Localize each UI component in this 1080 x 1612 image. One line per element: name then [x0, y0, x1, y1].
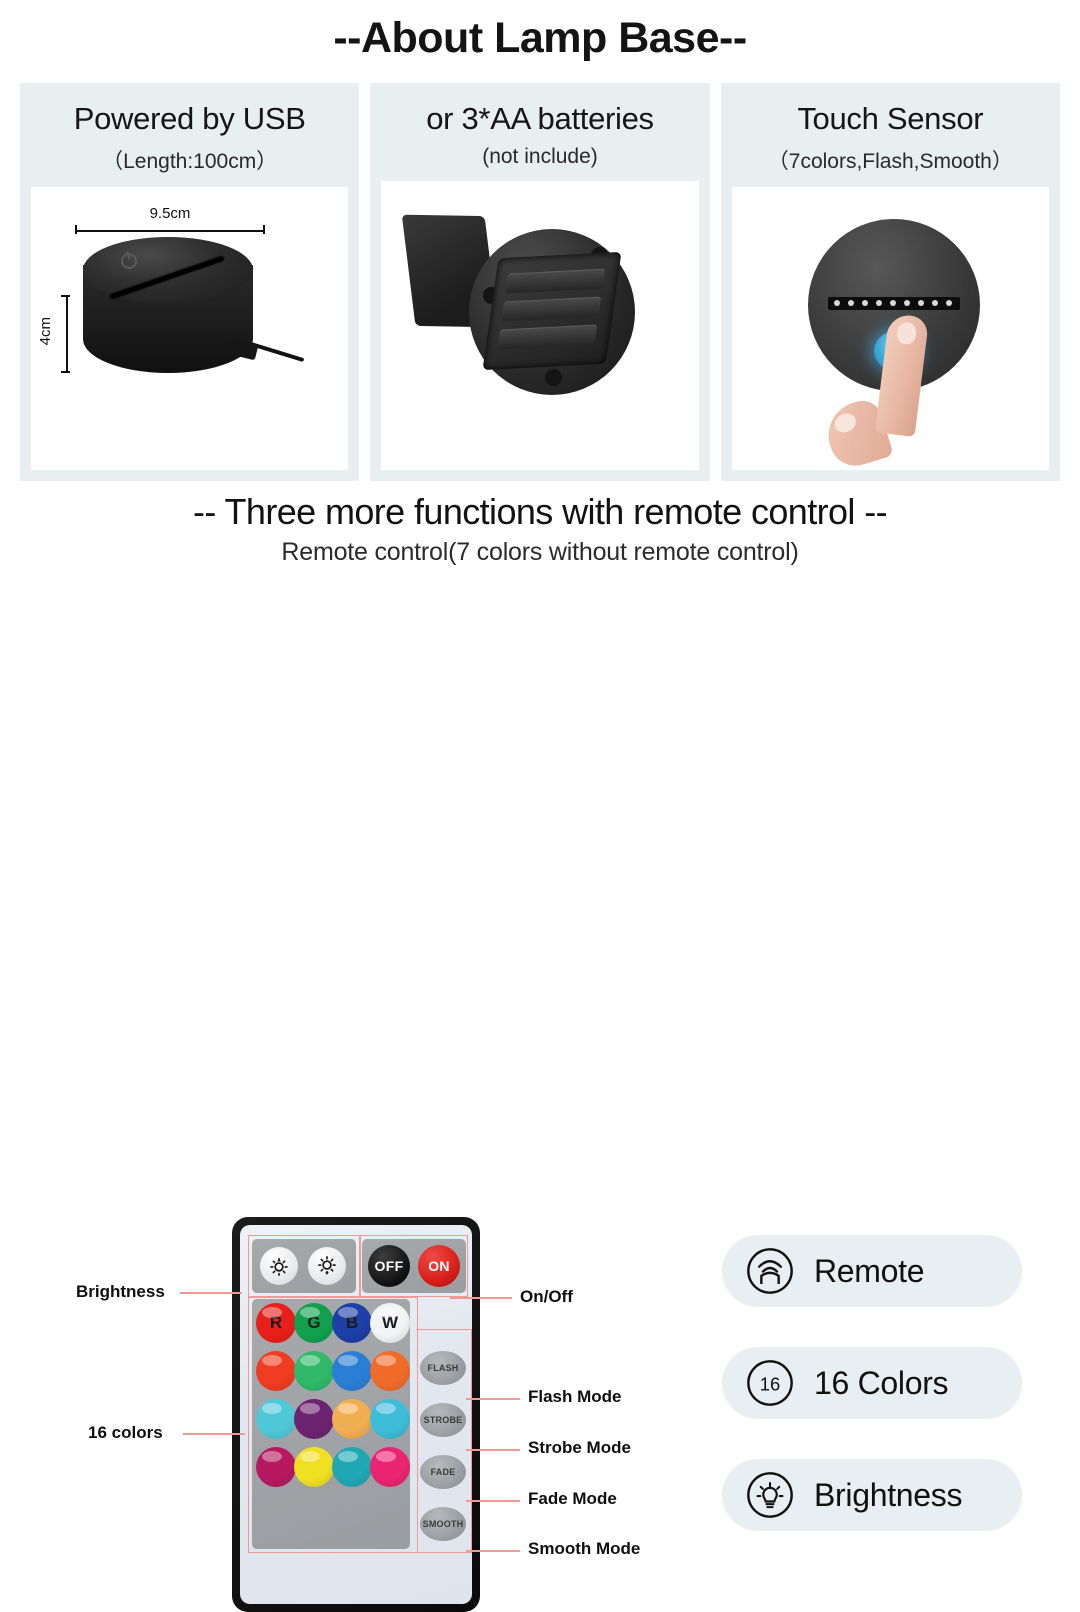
feature-cards-row: Powered by USB （Length:100cm） 9.5cm 4cm …	[0, 63, 1080, 481]
color-button-13[interactable]	[256, 1447, 296, 1487]
remote-section: OFF ON RGBW FLASHSTROBEFADESMOOTH Bright…	[0, 577, 1080, 1032]
dimension-width-line	[75, 225, 265, 234]
color-button-8[interactable]	[370, 1351, 410, 1391]
pill-label: Remote	[814, 1253, 924, 1290]
led-dot	[918, 300, 924, 306]
card-subtitle: （Length:100cm）	[102, 145, 277, 175]
remote-signal-icon	[744, 1245, 796, 1297]
card-touch-sensor: Touch Sensor （7colors,Flash,Smooth）	[721, 83, 1060, 481]
usb-plug	[226, 338, 259, 361]
brightness-down-button[interactable]	[308, 1247, 346, 1285]
led-dot	[876, 300, 882, 306]
led-strip	[828, 297, 960, 310]
color-button-r[interactable]: R	[256, 1303, 296, 1343]
callout-smooth-mode: Smooth Mode	[528, 1539, 640, 1559]
sixteen-circle-icon: 16	[744, 1357, 796, 1409]
lamp-base-usb-photo: 9.5cm 4cm	[31, 187, 348, 470]
card-aa-batteries: or 3*AA batteries (not include)	[370, 83, 709, 481]
callout-16-colors: 16 colors	[88, 1423, 163, 1443]
color-button-16[interactable]	[370, 1447, 410, 1487]
color-button-6[interactable]	[294, 1351, 334, 1391]
callout-flash-mode: Flash Mode	[528, 1387, 622, 1407]
section-heading: -- Three more functions with remote cont…	[0, 491, 1080, 533]
color-button-15[interactable]	[332, 1447, 372, 1487]
card-title: or 3*AA batteries	[426, 101, 654, 137]
callout-on-off: On/Off	[520, 1287, 573, 1307]
callout-smooth-line	[466, 1550, 520, 1552]
feature-pills: Remote 16 16 Colors	[722, 1235, 1022, 1531]
thumb-nail	[831, 410, 859, 436]
mode-button-smooth[interactable]: SMOOTH	[420, 1507, 466, 1541]
brightness-down-icon	[316, 1255, 338, 1277]
battery-slot	[506, 269, 606, 294]
on-button[interactable]: ON	[418, 1245, 460, 1287]
callout-fade-line	[466, 1500, 520, 1502]
mode-button-strobe[interactable]: STROBE	[420, 1403, 466, 1437]
led-dot	[848, 300, 854, 306]
rubber-foot	[545, 369, 562, 386]
sixteen-badge-text: 16	[760, 1374, 780, 1395]
lightbulb-icon	[744, 1469, 796, 1521]
remote-control: OFF ON RGBW FLASHSTROBEFADESMOOTH	[232, 1217, 480, 1612]
battery-cavity	[483, 252, 622, 370]
lamp-base-underside	[469, 229, 635, 395]
callout-strobe-line	[466, 1449, 520, 1451]
callout-strobe-mode: Strobe Mode	[528, 1438, 631, 1458]
pill-16-colors[interactable]: 16 16 Colors	[722, 1347, 1022, 1419]
battery-illustration	[381, 181, 698, 470]
brightness-up-button[interactable]	[260, 1247, 298, 1285]
dimension-height-label: 4cm	[37, 317, 54, 345]
color-button-g[interactable]: G	[294, 1303, 334, 1343]
mode-button-flash[interactable]: FLASH	[420, 1351, 466, 1385]
power-symbol-icon	[119, 251, 139, 271]
led-dot	[932, 300, 938, 306]
touch-sensor-illustration	[732, 187, 1049, 470]
card-title: Touch Sensor	[797, 101, 983, 137]
color-button-12[interactable]	[370, 1399, 410, 1439]
touch-sensor-finger-photo	[732, 187, 1049, 470]
dimension-width-label: 9.5cm	[75, 205, 265, 222]
power-keypad: OFF ON	[362, 1239, 466, 1293]
dimension-height-line	[61, 295, 70, 373]
callout-flash-line	[466, 1398, 520, 1400]
callout-fade-mode: Fade Mode	[528, 1489, 617, 1509]
remote-faceplate: OFF ON RGBW FLASHSTROBEFADESMOOTH	[240, 1225, 472, 1604]
color-button-b[interactable]: B	[332, 1303, 372, 1343]
callout-16-colors-line	[183, 1433, 245, 1435]
color-button-5[interactable]	[256, 1351, 296, 1391]
battery-slot	[498, 325, 598, 350]
color-button-7[interactable]	[332, 1351, 372, 1391]
color-button-10[interactable]	[294, 1399, 334, 1439]
battery-slot	[502, 297, 602, 322]
usb-cable	[227, 337, 303, 381]
pill-label: Brightness	[814, 1477, 962, 1514]
battery-compartment-photo	[381, 181, 698, 470]
brightness-keypad	[252, 1239, 356, 1293]
finger-nail	[896, 321, 918, 345]
pill-label: 16 Colors	[814, 1365, 948, 1402]
color-button-11[interactable]	[332, 1399, 372, 1439]
callout-brightness: Brightness	[76, 1282, 165, 1302]
led-dot	[862, 300, 868, 306]
lamp-base-top	[83, 237, 253, 303]
card-title: Powered by USB	[74, 101, 306, 137]
card-subtitle: (not include)	[482, 145, 598, 169]
callout-onoff-line	[450, 1297, 512, 1299]
color-button-9[interactable]	[256, 1399, 296, 1439]
pill-brightness[interactable]: Brightness	[722, 1459, 1022, 1531]
page-title: --About Lamp Base--	[0, 0, 1080, 63]
card-subtitle: （7colors,Flash,Smooth）	[768, 145, 1013, 175]
card-powered-by-usb: Powered by USB （Length:100cm） 9.5cm 4cm	[20, 83, 359, 481]
pill-remote[interactable]: Remote	[722, 1235, 1022, 1307]
led-dot	[904, 300, 910, 306]
led-dot	[890, 300, 896, 306]
section-subheading: Remote control(7 colors without remote c…	[0, 538, 1080, 567]
brightness-up-icon	[268, 1255, 290, 1277]
led-dot	[834, 300, 840, 306]
mode-button-fade[interactable]: FADE	[420, 1455, 466, 1489]
off-button[interactable]: OFF	[368, 1245, 410, 1287]
color-button-w[interactable]: W	[370, 1303, 410, 1343]
callout-brightness-line	[180, 1292, 242, 1294]
led-dot	[946, 300, 952, 306]
color-button-14[interactable]	[294, 1447, 334, 1487]
